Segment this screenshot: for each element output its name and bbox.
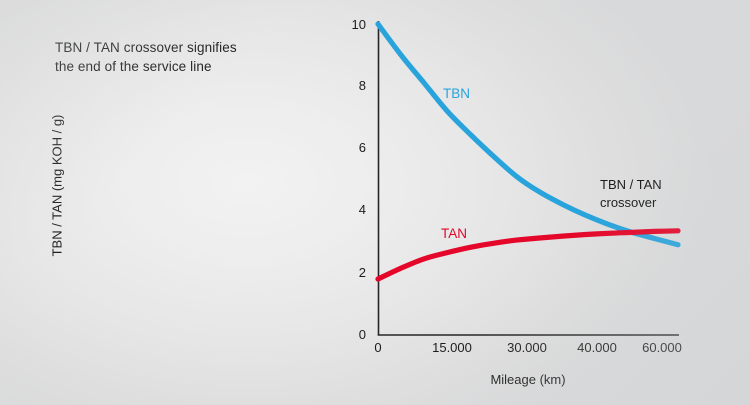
chart-canvas: TBN / TAN crossover signifies the end of…: [0, 0, 750, 405]
y-tick-label: 6: [336, 140, 366, 155]
x-tick-label: 15.000: [417, 340, 487, 355]
series-line-tan: [378, 231, 678, 279]
x-tick-label: 0: [343, 340, 413, 355]
y-tick-label: 8: [336, 78, 366, 93]
crossover-annotation: TBN / TAN crossover: [600, 176, 720, 212]
y-tick-label: 10: [336, 17, 366, 32]
x-tick-label: 30.000: [492, 340, 562, 355]
series-label-tan: TAN: [441, 226, 467, 241]
y-axis-title: TBN / TAN (mg KOH / g): [50, 71, 65, 301]
y-tick-label: 2: [336, 265, 366, 280]
x-tick-label: 60.000: [627, 340, 697, 355]
series-label-tbn: TBN: [443, 86, 470, 101]
y-tick-label: 4: [336, 202, 366, 217]
x-axis-title: Mileage (km): [428, 372, 628, 387]
x-tick-label: 40.000: [562, 340, 632, 355]
